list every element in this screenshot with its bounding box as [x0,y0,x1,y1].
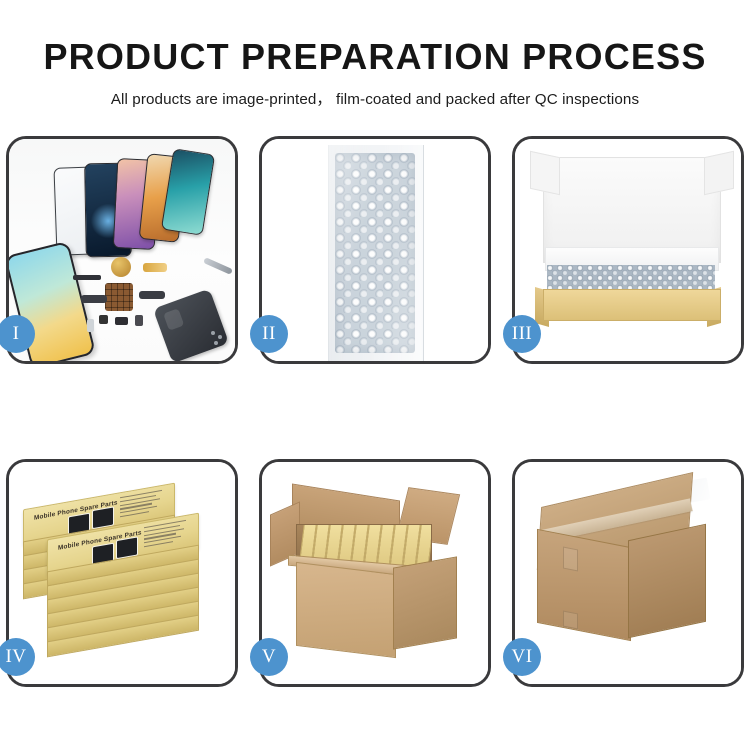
small-part-4 [87,319,94,332]
sealed-carton-right-face [628,524,706,639]
carton-seam-lower [563,611,578,630]
phone-fan-group [55,151,205,256]
small-part-2 [115,317,128,325]
page-header: PRODUCT PREPARATION PROCESS All products… [0,0,750,109]
flex-cable-gold-part [143,263,167,272]
speaker-bar-part [73,275,101,280]
process-row-2: Mobile Phone Spare Parts Mobile Phone Sp… [0,459,750,687]
products-scene [9,139,235,361]
step-image-i [9,139,235,361]
bubble-wrap-scene [262,139,488,361]
flex-cable-dark-part [81,295,107,303]
carton-right-face [393,556,457,649]
process-grid: I II [0,136,750,687]
process-row-1: I II [0,136,750,364]
screws-part [211,331,215,335]
step-badge-v: V [250,638,288,676]
coil-part-icon [111,257,131,277]
grid-component-part [105,283,133,311]
step-card-iv[interactable]: Mobile Phone Spare Parts Mobile Phone Sp… [6,459,238,687]
step-image-v [262,462,488,684]
small-part-1 [99,315,108,324]
step-image-iv: Mobile Phone Spare Parts Mobile Phone Sp… [9,462,235,684]
small-part-3 [135,315,143,326]
tweezers-tool-icon [203,257,233,275]
step-badge-iii: III [503,315,541,353]
bubble-wrap-gloss [328,145,422,361]
step-image-iii [515,139,741,361]
box-stack-scene: Mobile Phone Spare Parts Mobile Phone Sp… [9,462,235,684]
spare-parts-group [83,257,233,361]
page-title: PRODUCT PREPARATION PROCESS [0,38,750,76]
step-card-v[interactable]: V [259,459,491,687]
flex-cable-dark-part-2 [139,291,165,299]
step-image-vi [515,462,741,684]
step-card-i[interactable]: I [6,136,238,364]
page-subtitle: All products are image-printed， film-coa… [0,87,750,109]
mailer-box-front [543,289,721,321]
mailer-bubble-contents [547,265,715,291]
step-image-ii [262,139,488,361]
mailer-box-scene [515,139,741,361]
carton-seam-upper [563,547,578,572]
step-badge-ii: II [250,315,288,353]
phone-back-cover-part [153,288,229,361]
step-card-ii[interactable]: II [259,136,491,364]
sealed-carton-left-face [537,529,631,641]
step-badge-vi: VI [503,638,541,676]
open-carton-scene [262,462,488,684]
carton-front-face [296,562,396,658]
sealed-carton-scene [515,462,741,684]
step-card-vi[interactable]: VI [512,459,744,687]
step-card-iii[interactable]: III [512,136,744,364]
